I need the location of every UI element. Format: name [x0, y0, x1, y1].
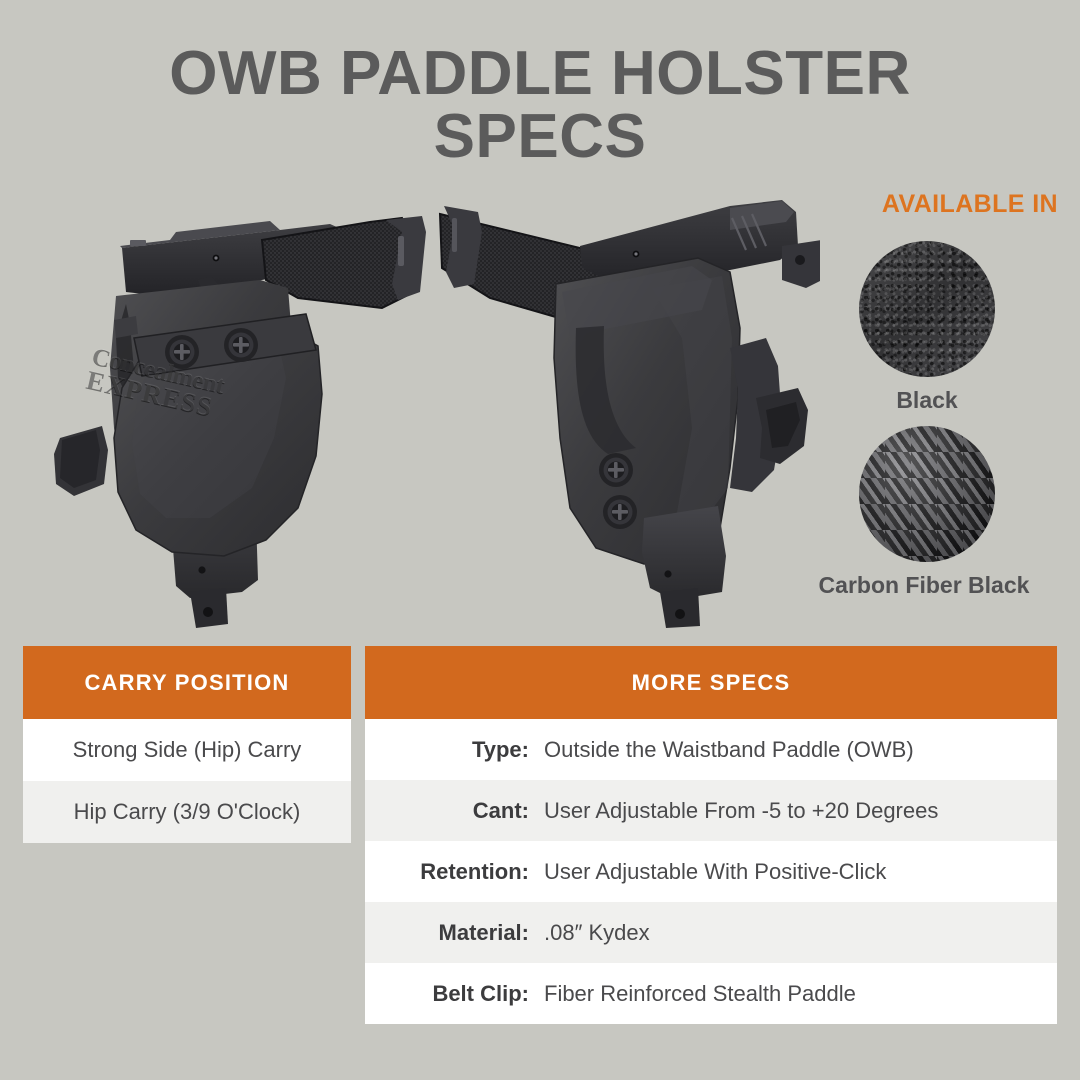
screw-upper: [165, 335, 199, 369]
textured-black-swatch[interactable]: [859, 241, 995, 377]
spec-value: .08″ Kydex: [537, 920, 650, 946]
spec-label: Cant:: [365, 798, 537, 824]
spec-label: Type:: [365, 737, 537, 763]
spec-row: Type: Outside the Waistband Paddle (OWB): [365, 719, 1057, 780]
holster-back-view: [430, 188, 820, 628]
product-image-stage: Concealment EXPRESS: [0, 180, 820, 630]
spec-label: Material:: [365, 920, 537, 946]
carry-position-row: Hip Carry (3/9 O'Clock): [23, 781, 351, 843]
spec-value: Outside the Waistband Paddle (OWB): [537, 737, 914, 763]
spec-value: Fiber Reinforced Stealth Paddle: [537, 981, 856, 1007]
carbon-fiber-swatch[interactable]: [859, 426, 995, 562]
screw-lower: [224, 328, 258, 362]
page-title: OWB PADDLE HOLSTER SPECS: [0, 42, 1080, 168]
holster-front-paddle-view: [30, 188, 430, 628]
spec-value: User Adjustable From -5 to +20 Degrees: [537, 798, 938, 824]
screw-upper-right: [599, 453, 633, 487]
available-in-heading: AVAILABLE IN: [796, 190, 1058, 219]
spec-row: Cant: User Adjustable From -5 to +20 Deg…: [365, 780, 1057, 841]
spec-row: Belt Clip: Fiber Reinforced Stealth Padd…: [365, 963, 1057, 1024]
spec-row: Material: .08″ Kydex: [365, 902, 1057, 963]
more-specs-table: MORE SPECS Type: Outside the Waistband P…: [365, 646, 1057, 1024]
spec-label: Retention:: [365, 859, 537, 885]
color-option-carbon-fiber-label: Carbon Fiber Black: [790, 572, 1058, 599]
available-colors-panel: AVAILABLE IN Black Carbon Fiber Black: [796, 190, 1058, 611]
page-title-line-2: SPECS: [0, 105, 1080, 168]
kydex-shell-right: [554, 258, 740, 628]
color-option-carbon-fiber[interactable]: Carbon Fiber Black: [796, 426, 1058, 599]
carry-position-table: CARRY POSITION Strong Side (Hip) Carry H…: [23, 646, 351, 843]
carry-position-row: Strong Side (Hip) Carry: [23, 719, 351, 781]
color-option-black[interactable]: Black: [796, 241, 1058, 414]
more-specs-header: MORE SPECS: [365, 646, 1057, 719]
spec-label: Belt Clip:: [365, 981, 537, 1007]
color-option-black-label: Black: [796, 387, 1058, 414]
spec-value: User Adjustable With Positive-Click: [537, 859, 886, 885]
carry-position-header: CARRY POSITION: [23, 646, 351, 719]
spec-row: Retention: User Adjustable With Positive…: [365, 841, 1057, 902]
page-title-line-1: OWB PADDLE HOLSTER: [0, 42, 1080, 105]
screw-lower-right: [603, 495, 637, 529]
